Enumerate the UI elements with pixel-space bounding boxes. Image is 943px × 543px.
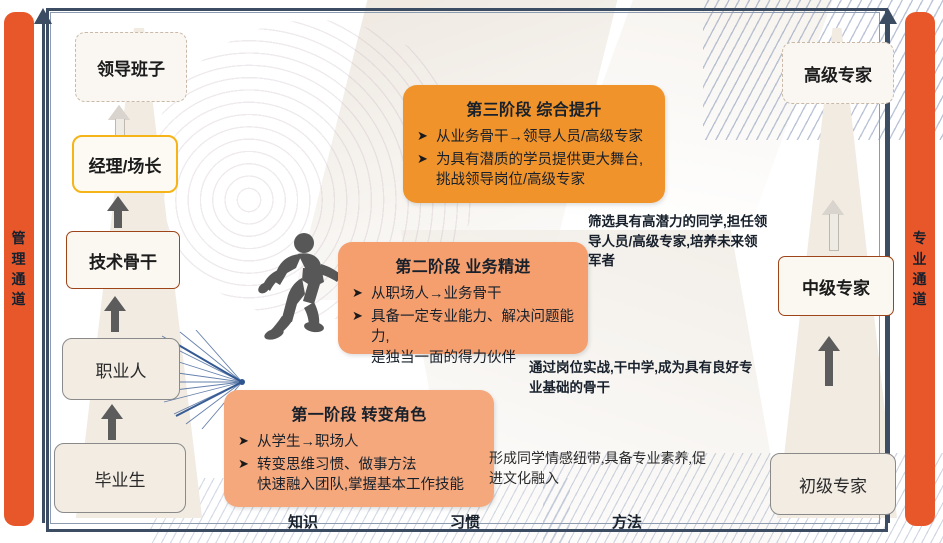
bullet-text: 转变思维习惯、做事方法 xyxy=(257,457,417,473)
level-label: 高级专家 xyxy=(804,61,872,86)
bullet-text-continued: 挑战领导岗位/高级专家 xyxy=(436,170,651,191)
stage-bullet-item: ➤ 转变思维习惯、做事方法 快速融入团队,掌握基本工作技能 xyxy=(238,455,480,496)
running-person-icon xyxy=(258,230,348,340)
level-box-technical-backbone[interactable]: 技术骨干 xyxy=(66,231,180,289)
stage-card-3[interactable]: 第三阶段 综合提升 ➤ 从业务骨干→领导人员/高级专家 ➤ 为具有潜质的学员提供… xyxy=(403,85,665,203)
bullet-text: 从职场人→业务骨干 xyxy=(371,286,502,302)
arrow-up-icon-graduate-to-professional xyxy=(101,404,123,440)
level-box-professional[interactable]: 职业人 xyxy=(62,338,180,400)
stage-bullet-list: ➤ 从职场人→业务骨干 ➤ 具备一定专业能力、解决问题能力, 是独当一面的得力伙… xyxy=(352,284,574,368)
bullet-text: 从学生→职场人 xyxy=(257,434,359,450)
bullet-arrow-icon: ➤ xyxy=(238,432,249,450)
stage-card-1[interactable]: 第一阶段 转变角色 ➤ 从学生→职场人 ➤ 转变思维习惯、做事方法 快速融入团队… xyxy=(224,390,494,507)
level-box-mid-expert[interactable]: 中级专家 xyxy=(778,256,894,316)
bullet-text: 从业务骨干→领导人员/高级专家 xyxy=(436,129,643,145)
level-label: 初级专家 xyxy=(799,472,867,497)
level-box-senior-expert[interactable]: 高级专家 xyxy=(782,42,894,104)
arrow-up-icon-junior-to-mid-expert xyxy=(818,336,840,386)
professional-channel-bar[interactable]: 专 业 通 道 xyxy=(905,12,935,526)
stage-bullet-list: ➤ 从学生→职场人 ➤ 转变思维习惯、做事方法 快速融入团队,掌握基本工作技能 xyxy=(238,432,480,496)
arrow-up-icon-backbone-to-manager xyxy=(107,196,129,228)
bullet-arrow-icon: ➤ xyxy=(417,127,428,145)
bullet-arrow-icon: ➤ xyxy=(417,150,428,168)
channel-char: 道 xyxy=(913,289,928,309)
bullet-text-continued: 快速融入团队,掌握基本工作技能 xyxy=(257,475,480,496)
stage-bullet-list: ➤ 从业务骨干→领导人员/高级专家 ➤ 为具有潜质的学员提供更大舞台, 挑战领导… xyxy=(417,127,651,191)
annotation-middle: 通过岗位实战,干中学,成为具有良好专业基础的骨干 xyxy=(529,358,759,397)
level-label: 领导班子 xyxy=(97,55,165,80)
level-box-graduate[interactable]: 毕业生 xyxy=(54,443,186,513)
stage-card-title: 第一阶段 转变角色 xyxy=(238,401,480,425)
channel-char: 管 xyxy=(12,228,27,248)
stage-bullet-item: ➤ 从业务骨干→领导人员/高级专家 xyxy=(417,127,651,148)
annotation-bottom: 形成同学情感纽带,具备专业素养,促进文化融入 xyxy=(489,450,709,491)
stage-card-2[interactable]: 第二阶段 业务精进 ➤ 从职场人→业务骨干 ➤ 具备一定专业能力、解决问题能力,… xyxy=(338,242,588,354)
axis-label-method: 方法 xyxy=(612,511,642,532)
level-box-junior-expert[interactable]: 初级专家 xyxy=(770,453,896,515)
stage-bullet-item: ➤ 从职场人→业务骨干 xyxy=(352,284,574,305)
annotation-top: 筛选具有高潜力的同学,担任领导人员/高级专家,培养未来领军者 xyxy=(588,212,768,271)
arrow-up-icon-mid-to-senior-expert xyxy=(822,200,844,250)
channel-char: 通 xyxy=(913,269,928,289)
management-channel-bar[interactable]: 管 理 通 道 xyxy=(4,12,34,526)
bullet-arrow-icon: ➤ xyxy=(352,284,363,302)
stage-bullet-item: ➤ 为具有潜质的学员提供更大舞台, 挑战领导岗位/高级专家 xyxy=(417,150,651,191)
channel-char: 通 xyxy=(12,269,27,289)
arrow-up-icon-manager-to-leader xyxy=(108,105,130,135)
level-label: 技术骨干 xyxy=(89,248,157,273)
stage-card-title: 第三阶段 综合提升 xyxy=(417,96,651,120)
axis-label-habit: 习惯 xyxy=(450,511,480,532)
level-label: 职业人 xyxy=(96,357,147,382)
slide-canvas: 管 理 通 道 专 业 通 道 领导班子 经理/场长 技术骨干 职业人 毕业生 … xyxy=(0,0,943,543)
level-label: 中级专家 xyxy=(802,274,870,299)
bullet-text: 为具有潜质的学员提供更大舞台, xyxy=(436,152,643,168)
management-progress-arrow-up-icon xyxy=(33,8,55,523)
channel-char: 理 xyxy=(12,249,27,269)
stage-bullet-item: ➤ 从学生→职场人 xyxy=(238,432,480,453)
channel-char: 道 xyxy=(12,289,27,309)
stage-card-title: 第二阶段 业务精进 xyxy=(352,253,574,277)
level-label: 经理/场长 xyxy=(89,152,162,177)
channel-char: 专 xyxy=(913,228,928,248)
bullet-arrow-icon: ➤ xyxy=(238,455,249,473)
level-box-leader[interactable]: 领导班子 xyxy=(75,32,187,102)
channel-char: 业 xyxy=(913,249,928,269)
bullet-text: 具备一定专业能力、解决问题能力, xyxy=(371,309,574,346)
bullet-arrow-icon: ➤ xyxy=(352,307,363,325)
arrow-up-icon-professional-to-backbone xyxy=(104,296,126,332)
level-box-manager[interactable]: 经理/场长 xyxy=(72,135,178,193)
level-label: 毕业生 xyxy=(95,466,146,491)
axis-label-knowledge: 知识 xyxy=(288,511,318,532)
